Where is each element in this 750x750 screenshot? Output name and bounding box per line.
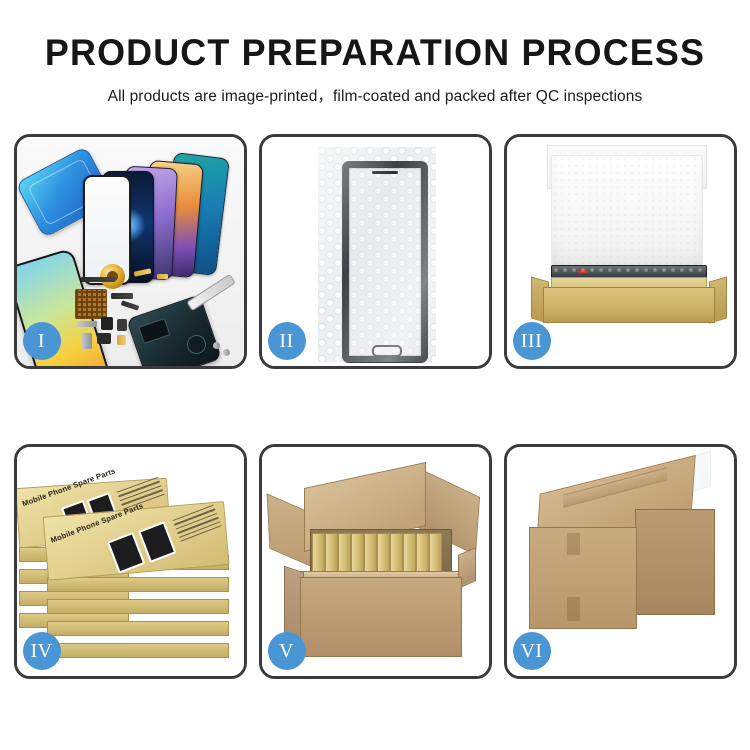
speaker-module-part [101,317,113,330]
connector-grid-chip [75,289,107,319]
flex-cable-part [81,277,115,282]
foam-insert [551,155,703,269]
screen-label-mark [578,270,588,273]
step-badge-1: I [23,322,61,360]
phone-screen-fan [83,155,243,280]
camera-module-part [117,319,127,331]
carton-left-face [529,527,637,629]
process-step-panel-2: II [259,134,492,369]
process-step-panel-3: III [504,134,737,369]
bubble-wrap-gloss [318,147,436,362]
stacked-box [47,643,227,659]
step-badge-4: IV [23,632,61,670]
vibrator-part [97,333,111,344]
bubble-wrap-sheet [318,147,436,362]
process-step-panel-6: VI [504,444,737,679]
carton-right-face [635,509,715,615]
carton-flap-seam [567,533,580,555]
box-front-wall [543,287,715,323]
page-header: PRODUCT PREPARATION PROCESS All products… [0,0,750,106]
carton-front-face [300,577,462,657]
metal-bracket-part [77,321,97,327]
carton-flap-seam [567,597,580,621]
gold-clip-part [157,274,168,279]
process-step-panel-5: V [259,444,492,679]
process-step-grid: I II III [0,134,750,679]
process-step-panel-4: Mobile Phone Spare Parts Mobile Phone Sp… [14,444,247,679]
stacked-box [47,577,227,593]
page-title: PRODUCT PREPARATION PROCESS [11,34,739,73]
step-badge-5: V [268,632,306,670]
sim-tray-part [81,333,92,349]
stacked-box [47,599,227,615]
stacked-box [47,621,227,637]
screw-part [223,349,230,356]
step-badge-3: III [513,322,551,360]
process-step-panel-1: I [14,134,247,369]
step-badge-6: VI [513,632,551,670]
page-subtitle: All products are image-printed，film-coat… [0,84,750,106]
screw-part [213,342,220,349]
gold-contact-part [117,335,126,345]
step-badge-2: II [268,322,306,360]
button-flex-part [111,293,133,299]
